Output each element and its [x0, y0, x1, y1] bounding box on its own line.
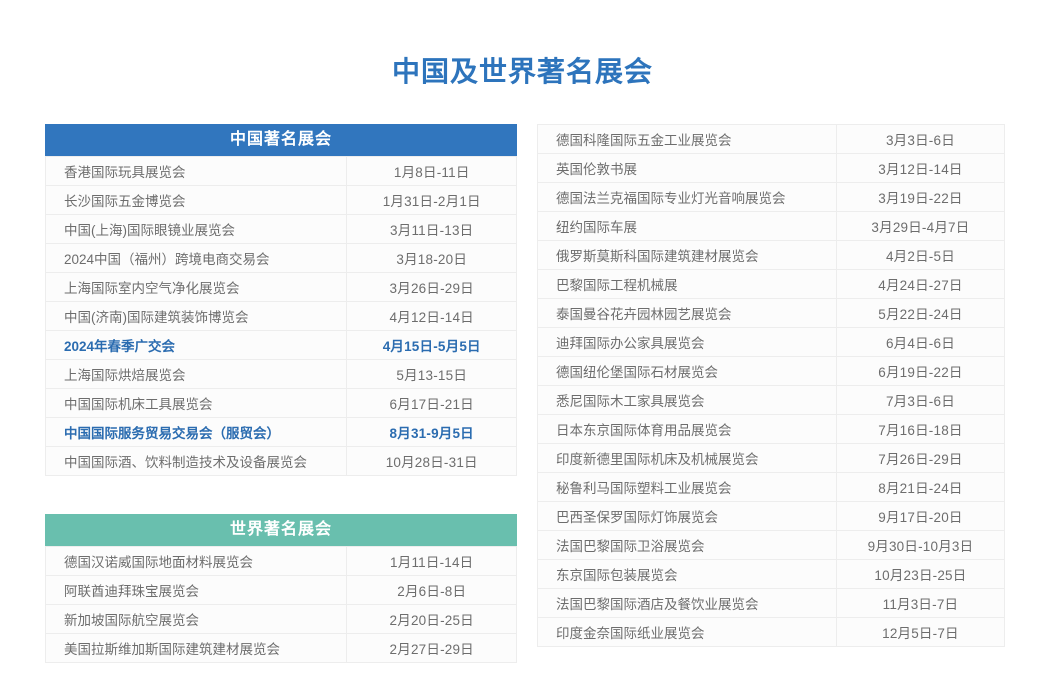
cell-expo-name: 纽约国际车展	[538, 212, 837, 241]
table-row[interactable]: 中国国际机床工具展览会6月17日-21日	[46, 389, 517, 418]
cell-expo-date: 8月21日-24日	[836, 473, 1004, 502]
table-row[interactable]: 中国国际服务贸易交易会（服贸会）8月31-9月5日	[46, 418, 517, 447]
cell-expo-date: 3月18-20日	[347, 244, 517, 273]
table-row[interactable]: 德国法兰克福国际专业灯光音响展览会3月19日-22日	[538, 183, 1005, 212]
cell-expo-name: 俄罗斯莫斯科国际建筑建材展览会	[538, 241, 837, 270]
cell-expo-date: 5月13-15日	[347, 360, 517, 389]
table-row[interactable]: 东京国际包装展览会10月23日-25日	[538, 560, 1005, 589]
cell-expo-date: 11月3日-7日	[836, 589, 1004, 618]
cell-expo-date: 4月24日-27日	[836, 270, 1004, 299]
table-row[interactable]: 中国(济南)国际建筑装饰博览会4月12日-14日	[46, 302, 517, 331]
table-row[interactable]: 德国纽伦堡国际石材展览会6月19日-22日	[538, 357, 1005, 386]
cell-expo-name: 德国纽伦堡国际石材展览会	[538, 357, 837, 386]
table-row[interactable]: 2024中国（福州）跨境电商交易会3月18-20日	[46, 244, 517, 273]
cell-expo-date: 6月17日-21日	[347, 389, 517, 418]
cell-expo-date: 7月26日-29日	[836, 444, 1004, 473]
expo-schedule-page: 中国及世界著名展会 中国著名展会 香港国际玩具展览会1月8日-11日长沙国际五金…	[0, 0, 1045, 692]
cell-expo-date: 2月27日-29日	[347, 634, 517, 663]
cell-expo-name: 德国汉诺威国际地面材料展览会	[46, 547, 347, 576]
table-row[interactable]: 美国拉斯维加斯国际建筑建材展览会2月27日-29日	[46, 634, 517, 663]
cell-expo-name: 长沙国际五金博览会	[46, 186, 347, 215]
right-column: 德国科隆国际五金工业展览会3月3日-6日英国伦敦书展3月12日-14日德国法兰克…	[537, 124, 1005, 647]
cell-expo-name: 巴黎国际工程机械展	[538, 270, 837, 299]
table-row[interactable]: 日本东京国际体育用品展览会7月16日-18日	[538, 415, 1005, 444]
table-row[interactable]: 法国巴黎国际酒店及餐饮业展览会11月3日-7日	[538, 589, 1005, 618]
cell-expo-date: 3月12日-14日	[836, 154, 1004, 183]
cell-expo-name: 上海国际室内空气净化展览会	[46, 273, 347, 302]
cell-expo-name: 悉尼国际木工家具展览会	[538, 386, 837, 415]
table-header-world: 世界著名展会	[45, 514, 517, 546]
table-row[interactable]: 俄罗斯莫斯科国际建筑建材展览会4月2日-5日	[538, 241, 1005, 270]
page-title: 中国及世界著名展会	[0, 52, 1045, 92]
table-row[interactable]: 2024年春季广交会4月15日-5月5日	[46, 331, 517, 360]
table-world-famous-expos-left: 世界著名展会 德国汉诺威国际地面材料展览会1月11日-14日阿联酋迪拜珠宝展览会…	[45, 514, 517, 663]
cell-expo-name: 2024中国（福州）跨境电商交易会	[46, 244, 347, 273]
table-row[interactable]: 德国汉诺威国际地面材料展览会1月11日-14日	[46, 547, 517, 576]
table-row[interactable]: 新加坡国际航空展览会2月20日-25日	[46, 605, 517, 634]
cell-expo-name: 印度新德里国际机床及机械展览会	[538, 444, 837, 473]
cell-expo-date: 9月30日-10月3日	[836, 531, 1004, 560]
cell-expo-name: 中国国际服务贸易交易会（服贸会）	[46, 418, 347, 447]
cell-expo-name: 美国拉斯维加斯国际建筑建材展览会	[46, 634, 347, 663]
table-header-china: 中国著名展会	[45, 124, 517, 156]
table-row[interactable]: 上海国际室内空气净化展览会3月26日-29日	[46, 273, 517, 302]
cell-expo-date: 9月17日-20日	[836, 502, 1004, 531]
table-body-world-left: 德国汉诺威国际地面材料展览会1月11日-14日阿联酋迪拜珠宝展览会2月6日-8日…	[46, 547, 517, 663]
cell-expo-name: 法国巴黎国际卫浴展览会	[538, 531, 837, 560]
cell-expo-date: 10月28日-31日	[347, 447, 517, 476]
cell-expo-date: 1月8日-11日	[347, 157, 517, 186]
cell-expo-date: 3月3日-6日	[836, 125, 1004, 154]
table-row[interactable]: 上海国际烘焙展览会5月13-15日	[46, 360, 517, 389]
table-row[interactable]: 中国国际酒、饮料制造技术及设备展览会10月28日-31日	[46, 447, 517, 476]
table-row[interactable]: 泰国曼谷花卉园林园艺展览会5月22日-24日	[538, 299, 1005, 328]
cell-expo-name: 秘鲁利马国际塑料工业展览会	[538, 473, 837, 502]
cell-expo-name: 2024年春季广交会	[46, 331, 347, 360]
cell-expo-date: 12月5日-7日	[836, 618, 1004, 647]
table-row[interactable]: 纽约国际车展3月29日-4月7日	[538, 212, 1005, 241]
cell-expo-name: 东京国际包装展览会	[538, 560, 837, 589]
table-world-famous-expos-right: 德国科隆国际五金工业展览会3月3日-6日英国伦敦书展3月12日-14日德国法兰克…	[537, 124, 1005, 647]
table-row[interactable]: 秘鲁利马国际塑料工业展览会8月21日-24日	[538, 473, 1005, 502]
cell-expo-name: 泰国曼谷花卉园林园艺展览会	[538, 299, 837, 328]
table-row[interactable]: 中国(上海)国际眼镜业展览会3月11日-13日	[46, 215, 517, 244]
table-row[interactable]: 阿联酋迪拜珠宝展览会2月6日-8日	[46, 576, 517, 605]
cell-expo-name: 阿联酋迪拜珠宝展览会	[46, 576, 347, 605]
tables-layout: 中国著名展会 香港国际玩具展览会1月8日-11日长沙国际五金博览会1月31日-2…	[45, 124, 1005, 663]
cell-expo-date: 8月31-9月5日	[347, 418, 517, 447]
cell-expo-date: 7月16日-18日	[836, 415, 1004, 444]
cell-expo-name: 英国伦敦书展	[538, 154, 837, 183]
cell-expo-date: 5月22日-24日	[836, 299, 1004, 328]
table-row[interactable]: 香港国际玩具展览会1月8日-11日	[46, 157, 517, 186]
cell-expo-date: 3月11日-13日	[347, 215, 517, 244]
table-row[interactable]: 迪拜国际办公家具展览会6月4日-6日	[538, 328, 1005, 357]
table-row[interactable]: 印度金奈国际纸业展览会12月5日-7日	[538, 618, 1005, 647]
table-row[interactable]: 德国科隆国际五金工业展览会3月3日-6日	[538, 125, 1005, 154]
cell-expo-name: 新加坡国际航空展览会	[46, 605, 347, 634]
cell-expo-name: 德国科隆国际五金工业展览会	[538, 125, 837, 154]
cell-expo-name: 香港国际玩具展览会	[46, 157, 347, 186]
cell-expo-name: 迪拜国际办公家具展览会	[538, 328, 837, 357]
table-row[interactable]: 印度新德里国际机床及机械展览会7月26日-29日	[538, 444, 1005, 473]
table-row[interactable]: 长沙国际五金博览会1月31日-2月1日	[46, 186, 517, 215]
cell-expo-date: 4月12日-14日	[347, 302, 517, 331]
cell-expo-date: 4月15日-5月5日	[347, 331, 517, 360]
cell-expo-date: 1月31日-2月1日	[347, 186, 517, 215]
table-body-world-right: 德国科隆国际五金工业展览会3月3日-6日英国伦敦书展3月12日-14日德国法兰克…	[538, 125, 1005, 647]
cell-expo-date: 2月6日-8日	[347, 576, 517, 605]
table-row[interactable]: 英国伦敦书展3月12日-14日	[538, 154, 1005, 183]
table-row[interactable]: 巴黎国际工程机械展4月24日-27日	[538, 270, 1005, 299]
cell-expo-date: 2月20日-25日	[347, 605, 517, 634]
table-spacer	[45, 476, 517, 514]
cell-expo-name: 中国国际酒、饮料制造技术及设备展览会	[46, 447, 347, 476]
table-body-china: 香港国际玩具展览会1月8日-11日长沙国际五金博览会1月31日-2月1日中国(上…	[46, 157, 517, 476]
table-china-famous-expos: 中国著名展会 香港国际玩具展览会1月8日-11日长沙国际五金博览会1月31日-2…	[45, 124, 517, 476]
cell-expo-date: 6月19日-22日	[836, 357, 1004, 386]
cell-expo-name: 日本东京国际体育用品展览会	[538, 415, 837, 444]
cell-expo-date: 1月11日-14日	[347, 547, 517, 576]
cell-expo-name: 中国(上海)国际眼镜业展览会	[46, 215, 347, 244]
cell-expo-name: 中国国际机床工具展览会	[46, 389, 347, 418]
cell-expo-name: 法国巴黎国际酒店及餐饮业展览会	[538, 589, 837, 618]
cell-expo-date: 7月3日-6日	[836, 386, 1004, 415]
table-row[interactable]: 悉尼国际木工家具展览会7月3日-6日	[538, 386, 1005, 415]
cell-expo-date: 3月29日-4月7日	[836, 212, 1004, 241]
cell-expo-name: 中国(济南)国际建筑装饰博览会	[46, 302, 347, 331]
table-row[interactable]: 法国巴黎国际卫浴展览会9月30日-10月3日	[538, 531, 1005, 560]
cell-expo-date: 10月23日-25日	[836, 560, 1004, 589]
cell-expo-date: 4月2日-5日	[836, 241, 1004, 270]
left-column: 中国著名展会 香港国际玩具展览会1月8日-11日长沙国际五金博览会1月31日-2…	[45, 124, 517, 663]
cell-expo-name: 德国法兰克福国际专业灯光音响展览会	[538, 183, 837, 212]
cell-expo-name: 上海国际烘焙展览会	[46, 360, 347, 389]
cell-expo-name: 巴西圣保罗国际灯饰展览会	[538, 502, 837, 531]
cell-expo-date: 3月19日-22日	[836, 183, 1004, 212]
cell-expo-date: 6月4日-6日	[836, 328, 1004, 357]
table-row[interactable]: 巴西圣保罗国际灯饰展览会9月17日-20日	[538, 502, 1005, 531]
cell-expo-name: 印度金奈国际纸业展览会	[538, 618, 837, 647]
cell-expo-date: 3月26日-29日	[347, 273, 517, 302]
